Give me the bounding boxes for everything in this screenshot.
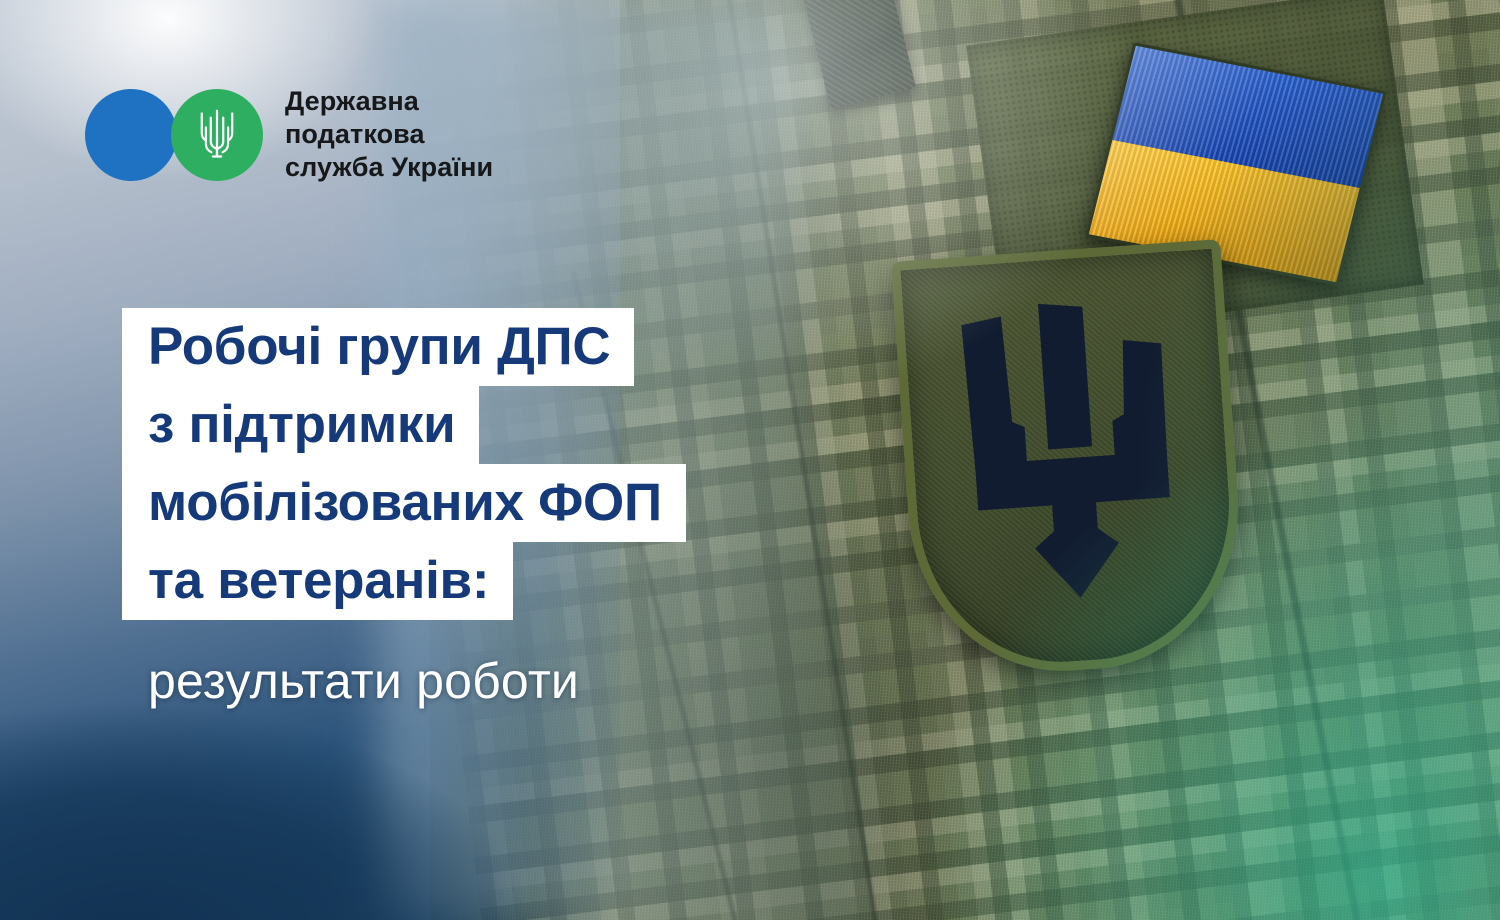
headline-line-4: та ветеранів: xyxy=(122,542,513,620)
logo-organization-name: Державна податкова служба України xyxy=(285,85,493,184)
headline-subtitle: результати роботи xyxy=(122,642,603,720)
headline-line-3: мобілізованих ФОП xyxy=(122,464,686,542)
logo-green-circle-icon xyxy=(171,89,263,181)
headline-block: Робочі групи ДПС з підтримки мобілізован… xyxy=(122,308,686,720)
logo-blue-circle-icon xyxy=(85,89,177,181)
headline-line-2: з підтримки xyxy=(122,386,479,464)
dps-logo[interactable]: Державна податкова служба України xyxy=(85,85,493,184)
ukraine-trident-icon xyxy=(196,108,238,162)
banner: Державна податкова служба України Робочі… xyxy=(0,0,1500,920)
headline-line-1: Робочі групи ДПС xyxy=(122,308,634,386)
